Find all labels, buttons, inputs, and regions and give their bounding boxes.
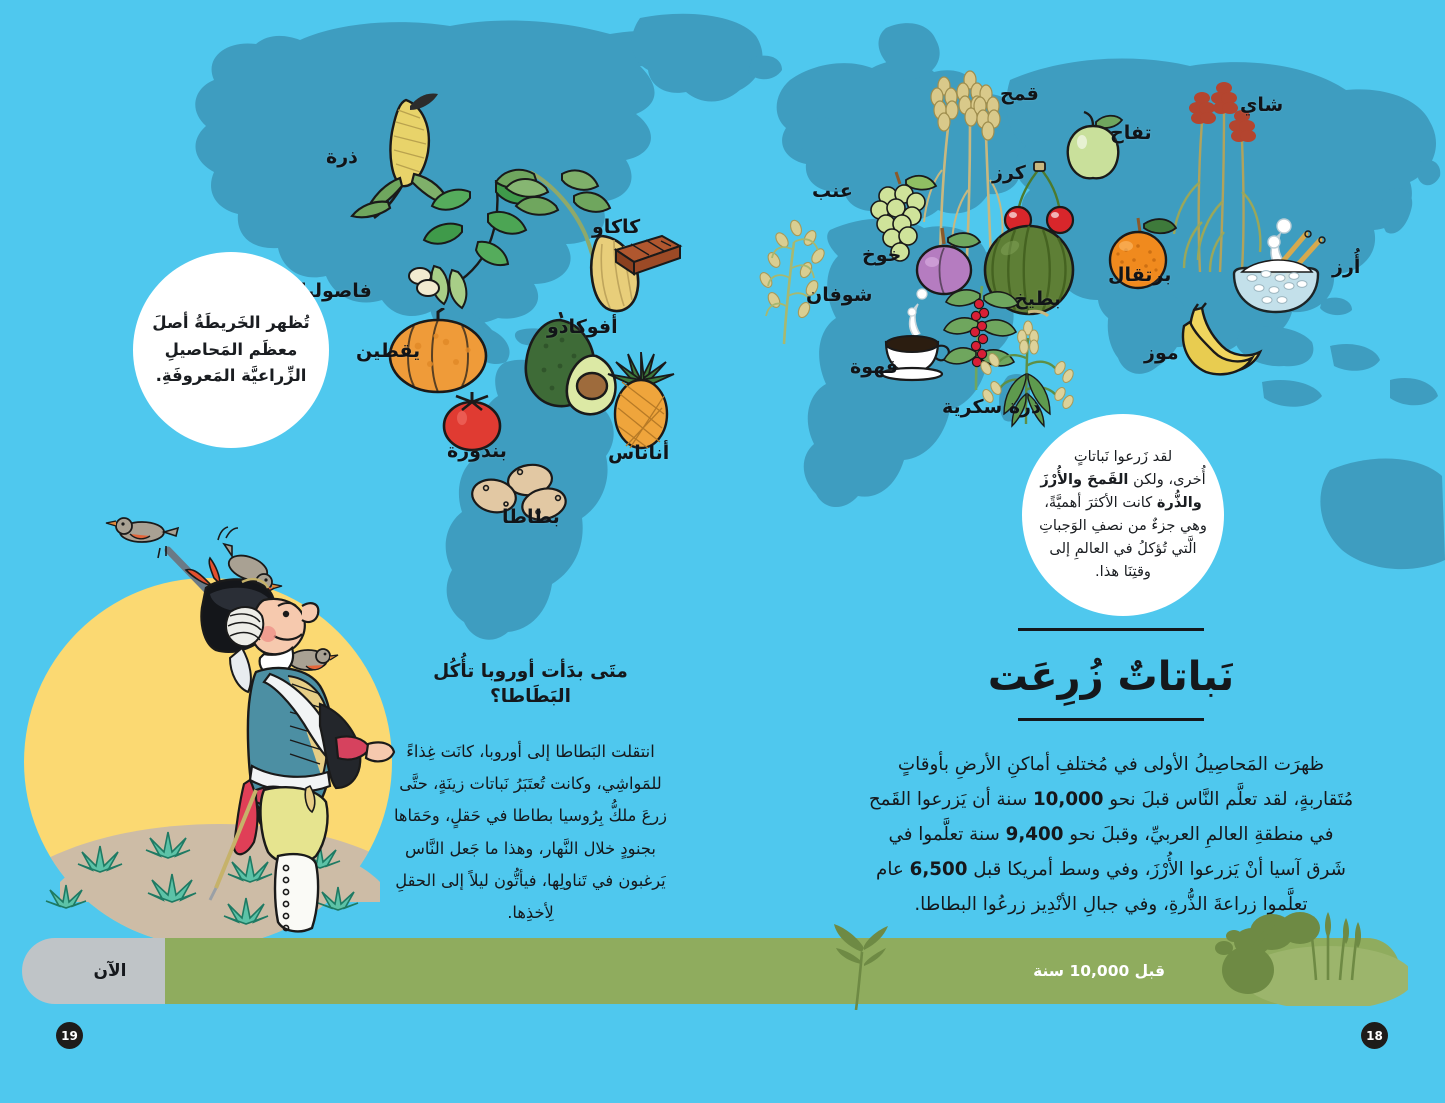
crop-label-wheat: قمح [1000, 85, 1039, 104]
title-rule-bottom [1018, 718, 1204, 721]
crops-line-2-pre: أُخرى، ولكن [1128, 471, 1205, 488]
left-article-body: انتقلت البَطاطا إلى أوروبا، كانَت غِذاءً… [392, 736, 669, 930]
page-title: نَباتاتٌ زُرِعَت [866, 653, 1356, 702]
timeline-now-label: الآن [55, 938, 165, 1004]
crops-line-2-bold: القَمحَ والأُرْزَ [1040, 471, 1128, 488]
timeline-plant-right-icon [1208, 902, 1408, 1006]
crop-label-grapes: عنب [812, 182, 853, 201]
crop-label-pumpkin: يقطين [356, 342, 420, 361]
crops-caption-bubble: لقد زَرعوا نَباتاتٍ أُخرى، ولكن القَمحَ … [1022, 414, 1224, 616]
crops-line-1: لقد زَرعوا نَباتاتٍ [1074, 448, 1172, 465]
map-caption-text: تُظهر الخَريطَةُ أصلَ معظَم المَحاصيلِ ا… [133, 310, 329, 390]
timeline-plant-left-icon [820, 924, 900, 1010]
crop-label-coffee: قهوة [850, 358, 898, 377]
page-number-right: 18 [1361, 1022, 1388, 1049]
timeline-bar: الآن قبل 10,000 سنة [0, 938, 1445, 1004]
apple-icon [1060, 110, 1126, 182]
timeline-green-track [55, 938, 1400, 1004]
article-body: ظهرَت المَحاصِيلُ الأولى في مُختلفِ أماك… [866, 747, 1356, 923]
crop-label-apple: تفاح [1110, 124, 1152, 143]
banana-icon [1170, 302, 1266, 380]
map-caption-bubble: تُظهر الخَريطَةُ أصلَ معظَم المَحاصيلِ ا… [133, 252, 329, 448]
title-rule-top [1018, 628, 1204, 631]
timeline-old-label: قبل 10,000 سنة [1033, 938, 1165, 1004]
crop-label-tomato: بندورة [447, 442, 507, 461]
crop-label-cherry: كرز [992, 164, 1026, 183]
crop-label-banana: موز [1144, 344, 1179, 363]
crop-label-potato: بطاطا [502, 508, 560, 527]
crop-label-pineapple: أناناس [608, 444, 669, 463]
crop-label-orange: برتقال [1108, 266, 1171, 285]
crop-label-avocado: أفوكادو [547, 318, 618, 337]
left-article-heading: متَى بدَأت أوروبا تأُكُل البَطَاطا؟ [392, 660, 669, 710]
crops-line-5: الَّتي تُؤكلُ في العالمِ إلى [1049, 540, 1196, 557]
crop-label-sorghum: ذرة سكرية [942, 398, 1041, 417]
prussian-king-illustration [20, 490, 410, 950]
chocolate-bar-icon [610, 228, 684, 284]
crops-line-4: وهي جزءٌ من نصفِ الوَجباتِ [1039, 517, 1207, 534]
crop-label-rice: أُرز [1332, 258, 1360, 277]
crops-caption-text: لقد زَرعوا نَباتاتٍ أُخرى، ولكن القَمحَ … [1025, 446, 1221, 583]
book-spread: ذرة فاصوليا كاكاو [0, 0, 1445, 1103]
crop-label-plum: خوخ [862, 246, 901, 265]
article-plants-grown: نَباتاتٌ زُرِعَت ظهرَت المَحاصِيلُ الأول… [866, 628, 1356, 922]
page-number-left: 19 [56, 1022, 83, 1049]
crop-label-corn: ذرة [326, 148, 358, 167]
crops-line-6: وقتِنَا هذا. [1095, 563, 1151, 580]
crop-label-oat: شوفان [806, 286, 872, 305]
pineapple-icon [604, 352, 678, 452]
article-potato-europe: متَى بدَأت أوروبا تأُكُل البَطَاطا؟ انتق… [392, 660, 669, 930]
crop-label-tea: شاي [1240, 96, 1283, 115]
crops-line-3-bold: والذُّرة [1157, 494, 1202, 511]
oat-icon [748, 218, 844, 348]
crops-line-3-post: كانت الأكثرَ أهميَّةً، [1044, 494, 1157, 511]
